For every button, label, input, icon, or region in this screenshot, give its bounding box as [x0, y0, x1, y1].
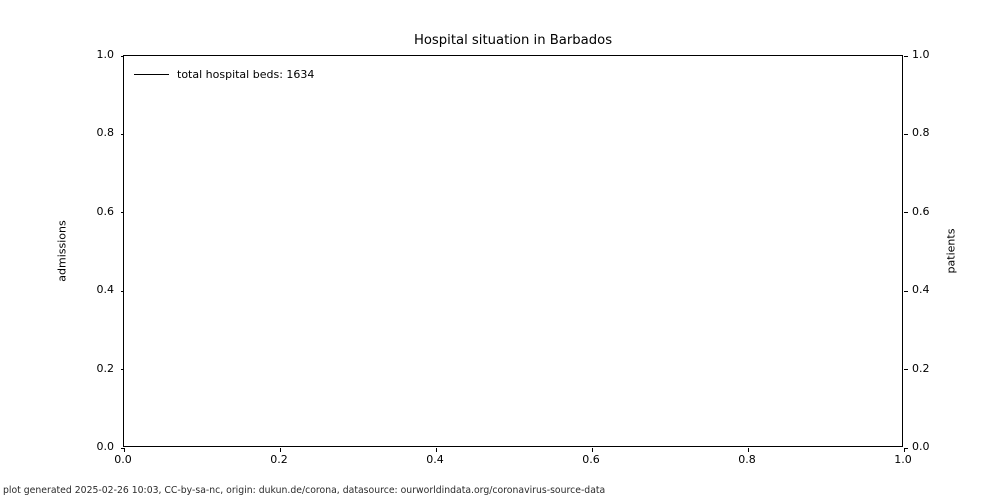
y-axis-tick-label-right: 0.8	[912, 126, 952, 139]
x-axis-tick-label: 0.2	[249, 453, 309, 466]
y-axis-tick-label-left: 0.0	[0, 440, 114, 453]
y-axis-tick-label-left: 0.4	[0, 283, 114, 296]
y-axis-tick-left	[121, 369, 125, 370]
y-axis-tick-label-left: 0.2	[0, 362, 114, 375]
y-axis-tick-label-left: 1.0	[0, 48, 114, 61]
y-axis-tick-right	[904, 369, 908, 370]
y-axis-tick-left	[121, 448, 125, 449]
y-axis-tick-label-right: 0.2	[912, 362, 952, 375]
figure-canvas: Hospital situation in Barbados admission…	[0, 0, 1000, 500]
x-axis-tick	[748, 448, 749, 452]
y-axis-tick-right	[904, 448, 908, 449]
y-axis-tick-label-left: 0.6	[0, 205, 114, 218]
y-axis-tick-left	[121, 291, 125, 292]
y-axis-tick-left	[121, 212, 125, 213]
y-axis-tick-label-right: 1.0	[912, 48, 952, 61]
x-axis-tick-label: 0.4	[405, 453, 465, 466]
y-axis-tick-label-left: 0.8	[0, 126, 114, 139]
x-axis-tick-label: 0.8	[717, 453, 777, 466]
y-axis-tick-label-right: 0.4	[912, 283, 952, 296]
footer-credit: plot generated 2025-02-26 10:03, CC-by-s…	[3, 485, 605, 497]
y-axis-tick-left	[121, 134, 125, 135]
y-axis-tick-label-right: 0.0	[912, 440, 952, 453]
x-axis-tick	[436, 448, 437, 452]
y-axis-tick-right	[904, 56, 908, 57]
x-axis-tick-label: 0.6	[561, 453, 621, 466]
y-axis-tick-right	[904, 291, 908, 292]
y-axis-label-left: admissions	[56, 220, 69, 281]
chart-title: Hospital situation in Barbados	[123, 33, 903, 49]
y-axis-label-right: patients	[945, 229, 958, 274]
plot-area[interactable]	[123, 55, 903, 447]
legend-entry-label: total hospital beds: 1634	[177, 68, 314, 81]
y-axis-tick-right	[904, 212, 908, 213]
y-axis-tick-label-right: 0.6	[912, 205, 952, 218]
x-axis-tick-label: 1.0	[873, 453, 933, 466]
y-axis-tick-right	[904, 134, 908, 135]
chart-legend[interactable]: total hospital beds: 1634	[134, 68, 314, 81]
x-axis-tick	[592, 448, 593, 452]
legend-line-marker	[134, 74, 169, 75]
x-axis-tick-label: 0.0	[93, 453, 153, 466]
y-axis-tick-left	[121, 56, 125, 57]
x-axis-tick	[280, 448, 281, 452]
